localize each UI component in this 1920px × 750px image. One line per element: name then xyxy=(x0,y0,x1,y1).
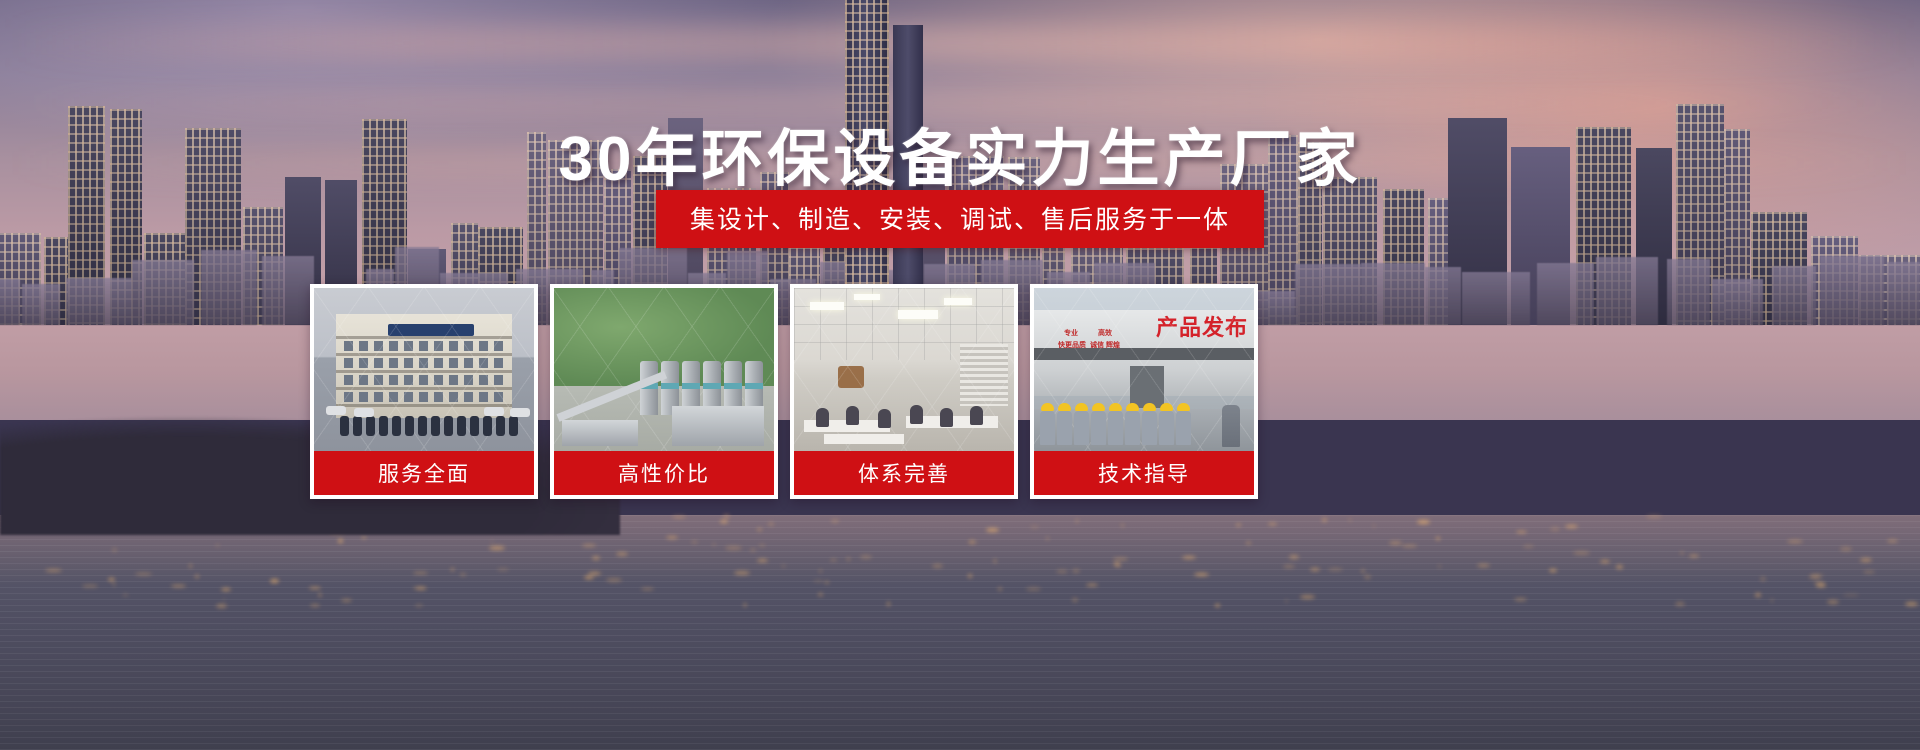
building-silhouette xyxy=(1537,263,1594,325)
person-figure xyxy=(444,416,453,436)
water-reflection-light xyxy=(1600,560,1610,563)
water-reflection-light xyxy=(582,544,596,547)
water-reflection-light xyxy=(1322,518,1327,522)
water-reflection-light xyxy=(1573,551,1590,555)
water-reflection-light xyxy=(672,516,686,518)
parked-car xyxy=(326,406,346,415)
water-reflection-light xyxy=(967,541,978,543)
worker-figure xyxy=(1091,411,1106,445)
water-reflection-light xyxy=(782,565,785,567)
person-figure xyxy=(379,416,388,436)
window-blinds xyxy=(960,344,1008,406)
building-window xyxy=(344,341,353,351)
building-window xyxy=(449,341,458,351)
building-silhouette xyxy=(1820,256,1884,325)
water-reflection-light xyxy=(1689,555,1699,557)
building-window xyxy=(419,375,428,385)
worker-figure xyxy=(1074,411,1089,445)
water-reflection-light xyxy=(757,528,762,531)
building-window xyxy=(389,358,398,368)
water-reflection-light xyxy=(768,522,774,526)
building-shape xyxy=(336,314,512,418)
building-floor-line xyxy=(336,353,512,356)
water-reflection-light xyxy=(1300,595,1315,599)
building-silhouette xyxy=(1667,259,1710,325)
water-reflection-light xyxy=(744,603,746,607)
water-reflection-light xyxy=(45,569,62,572)
building-silhouette xyxy=(132,260,194,325)
safety-helmet-icon xyxy=(1075,403,1088,411)
water-reflection-light xyxy=(1887,540,1898,542)
water-reflection-light xyxy=(1116,563,1121,567)
ceiling-light xyxy=(854,294,880,300)
person-figure xyxy=(509,416,518,436)
factory-wall-slogan: 高效 xyxy=(1098,330,1112,338)
plant-building xyxy=(562,420,638,446)
person-figure xyxy=(496,416,505,436)
water-reflection-light xyxy=(1840,547,1852,551)
building-window xyxy=(389,375,398,385)
water-reflection-light xyxy=(986,528,999,532)
building-window xyxy=(359,375,368,385)
card-caption: 服务全面 xyxy=(314,451,534,495)
water-reflection-light xyxy=(1364,575,1371,579)
person-figure xyxy=(418,416,427,436)
building-window xyxy=(374,375,383,385)
worker-figure xyxy=(1040,411,1055,445)
building-window xyxy=(464,375,473,385)
building-floor-line xyxy=(336,370,512,373)
water-reflection-light xyxy=(189,564,192,568)
building-window xyxy=(434,341,443,351)
water-reflection-light xyxy=(415,604,423,607)
card-caption: 高性价比 xyxy=(554,451,774,495)
feature-card-list: 服务全面 高性价比 体系完善 产品发布 xyxy=(310,284,1258,499)
person-figure xyxy=(816,408,829,427)
worker-figure xyxy=(1108,411,1123,445)
feature-card[interactable]: 服务全面 xyxy=(310,284,538,499)
building-window xyxy=(494,358,503,368)
person-figure xyxy=(910,405,923,424)
card-image-factory-workers: 产品发布 专业 快更品质 高效 诚信 辉煌 xyxy=(1034,288,1254,451)
building-window xyxy=(494,392,503,402)
water-reflection-light xyxy=(1860,558,1872,562)
water-reflection-light xyxy=(416,587,427,590)
water-reflection-light xyxy=(691,541,698,543)
water-reflection-light xyxy=(1194,573,1209,576)
water-reflection-light xyxy=(1477,564,1490,567)
water-reflection-light xyxy=(1755,593,1761,597)
water-reflection-light xyxy=(1550,527,1560,531)
water-reflection-light xyxy=(1113,558,1128,560)
banner-headline: 30年环保设备实力生产厂家 xyxy=(0,108,1920,198)
water-reflection-light xyxy=(1514,598,1527,601)
water-reflection-light xyxy=(1056,570,1068,573)
building-window xyxy=(404,341,413,351)
water-reflection-light xyxy=(1523,545,1534,548)
safety-helmet-icon xyxy=(1092,403,1105,411)
card-caption: 技术指导 xyxy=(1034,451,1254,495)
building-silhouette xyxy=(1361,263,1425,325)
water-reflection-light xyxy=(309,587,321,589)
person-figure xyxy=(366,416,375,436)
water-reflection-light xyxy=(1030,526,1039,528)
water-reflection-light xyxy=(830,559,837,561)
building-window xyxy=(359,341,368,351)
building-silhouette xyxy=(66,278,132,325)
water-reflection-light xyxy=(1436,537,1440,540)
water-reflection-light xyxy=(1402,545,1417,547)
water-reflection-light xyxy=(847,558,850,560)
factory-banner-text: 产品发布 xyxy=(1156,310,1248,342)
water-reflection-light xyxy=(1787,540,1803,543)
water-reflection-light xyxy=(1026,587,1041,591)
feature-card[interactable]: 高性价比 xyxy=(550,284,778,499)
building-window xyxy=(479,358,488,368)
building-window xyxy=(359,392,368,402)
water-reflection-light xyxy=(713,543,715,546)
building-window xyxy=(464,358,473,368)
card-caption: 体系完善 xyxy=(794,451,1014,495)
water-reflection-light xyxy=(319,593,321,597)
plant-building xyxy=(672,406,764,446)
water-reflection-light xyxy=(616,552,628,556)
water-reflection-light xyxy=(216,544,219,547)
water-reflection-light xyxy=(1438,565,1441,568)
safety-helmet-icon xyxy=(1126,403,1139,411)
safety-helmet-icon xyxy=(1058,403,1071,411)
building-sign xyxy=(388,324,474,336)
building-window xyxy=(434,375,443,385)
water-reflection-light xyxy=(1215,604,1220,607)
person-figure xyxy=(431,416,440,436)
card-image-aerial-plant xyxy=(554,288,774,451)
water-reflection-light xyxy=(171,585,186,587)
safety-helmet-icon xyxy=(1177,403,1190,411)
water-reflection-light xyxy=(123,594,128,596)
water-reflection-light xyxy=(1373,524,1375,528)
water-reflection-light xyxy=(413,572,428,574)
water-reflection-light xyxy=(195,575,199,578)
building-window xyxy=(479,375,488,385)
river-water xyxy=(0,515,1920,750)
office-desk xyxy=(824,434,904,444)
water-reflection-light xyxy=(641,588,654,590)
water-reflection-light xyxy=(1565,525,1578,528)
water-reflection-light xyxy=(1549,569,1557,572)
water-reflection-light xyxy=(221,588,231,591)
building-silhouette xyxy=(1712,279,1763,325)
water-reflection-light xyxy=(1268,523,1277,525)
water-reflection-light xyxy=(497,568,509,571)
ceiling-light xyxy=(810,302,844,310)
building-window xyxy=(359,358,368,368)
factory-wall-slogan: 快更品质 xyxy=(1058,342,1086,350)
building-silhouette xyxy=(1887,262,1920,325)
water-reflection-light xyxy=(489,546,505,550)
foreman-figure xyxy=(1222,405,1240,447)
water-reflection-light xyxy=(825,581,829,584)
water-reflection-light xyxy=(1771,599,1773,602)
building-window xyxy=(494,375,503,385)
building-silhouette xyxy=(1425,267,1461,325)
water-reflection-light xyxy=(994,559,996,563)
building-silhouette xyxy=(1462,272,1530,325)
water-reflection-light xyxy=(1072,598,1078,602)
water-reflection-light xyxy=(1810,574,1824,577)
water-reflection-light xyxy=(968,574,972,578)
building-window xyxy=(434,392,443,402)
building-window xyxy=(344,392,353,402)
building-window xyxy=(344,375,353,385)
building-window xyxy=(389,341,398,351)
water-reflection-light xyxy=(860,555,872,559)
factory-door xyxy=(1130,366,1164,408)
person-figure xyxy=(457,416,466,436)
water-reflection-light xyxy=(1417,520,1430,524)
building-window xyxy=(389,392,398,402)
person-figure xyxy=(392,416,401,436)
water-reflection-light xyxy=(1182,556,1196,559)
water-reflection-light xyxy=(82,585,98,587)
feature-card[interactable]: 体系完善 xyxy=(790,284,1018,499)
water-shimmer xyxy=(0,515,1920,750)
person-figure xyxy=(846,406,859,425)
building-window xyxy=(404,392,413,402)
water-reflection-light xyxy=(759,544,765,547)
water-reflection-light xyxy=(666,536,678,539)
water-reflection-light xyxy=(750,549,756,551)
building-silhouette xyxy=(0,279,20,325)
safety-helmet-icon xyxy=(1143,403,1156,411)
water-reflection-light xyxy=(1616,565,1623,569)
water-reflection-light xyxy=(998,587,1002,591)
building-window xyxy=(464,392,473,402)
worker-figure xyxy=(1176,411,1191,445)
feature-card[interactable]: 产品发布 专业 快更品质 高效 诚信 辉煌 技术指导 xyxy=(1030,284,1258,499)
person-figure xyxy=(878,409,891,428)
water-reflection-light xyxy=(1236,524,1241,526)
water-reflection-light xyxy=(887,602,890,606)
building-window xyxy=(374,341,383,351)
water-reflection-light xyxy=(1361,570,1365,572)
building-window xyxy=(374,392,383,402)
water-reflection-light xyxy=(1076,519,1078,523)
water-reflection-light xyxy=(1646,515,1662,518)
water-reflection-light xyxy=(1349,519,1351,521)
water-reflection-light xyxy=(1046,537,1049,540)
person-figure xyxy=(483,416,492,436)
hero-banner: 30年环保设备实力生产厂家 集设计、制造、安装、调试、售后服务于一体 服务全面 … xyxy=(0,0,1920,750)
water-reflection-light xyxy=(1680,552,1684,554)
parked-car xyxy=(484,407,504,416)
water-reflection-light xyxy=(606,578,622,582)
banner-subtitle-bar: 集设计、制造、安装、调试、售后服务于一体 xyxy=(656,190,1264,248)
water-reflection-light xyxy=(584,576,594,579)
water-reflection-light xyxy=(1086,584,1098,586)
water-reflection-light xyxy=(734,571,750,575)
building-window xyxy=(449,392,458,402)
building-silhouette xyxy=(262,256,314,325)
water-reflection-light xyxy=(592,556,600,560)
water-reflection-light xyxy=(216,604,227,608)
worker-figure xyxy=(1125,411,1140,445)
safety-helmet-icon xyxy=(1160,403,1173,411)
safety-helmet-icon xyxy=(1041,403,1054,411)
building-window xyxy=(404,375,413,385)
building-silhouette xyxy=(1295,264,1361,325)
worker-figure xyxy=(1142,411,1157,445)
parked-car xyxy=(354,408,374,417)
water-reflection-light xyxy=(1843,594,1859,596)
person-figure xyxy=(340,416,349,436)
person-figure xyxy=(470,416,479,436)
water-reflection-light xyxy=(223,598,225,601)
person-figure xyxy=(353,416,362,436)
building-window xyxy=(419,358,428,368)
water-reflection-light xyxy=(1816,584,1826,587)
water-reflection-light xyxy=(460,573,466,576)
water-reflection-light xyxy=(831,520,839,522)
building-silhouette xyxy=(201,250,257,325)
water-reflection-light xyxy=(723,515,730,517)
water-reflection-light xyxy=(1283,565,1295,568)
water-reflection-light xyxy=(451,568,454,571)
water-reflection-light xyxy=(270,579,279,583)
water-reflection-light xyxy=(1389,541,1402,545)
building-window xyxy=(344,358,353,368)
water-reflection-light xyxy=(1121,524,1124,527)
water-reflection-light xyxy=(362,536,366,539)
card-image-office-building xyxy=(314,288,534,451)
water-reflection-light xyxy=(818,593,823,596)
water-reflection-light xyxy=(1328,568,1343,571)
water-reflection-light xyxy=(1905,602,1918,606)
water-reflection-light xyxy=(588,572,601,575)
person-figure xyxy=(970,406,983,425)
person-figure xyxy=(405,416,414,436)
building-window xyxy=(434,358,443,368)
building-silhouette xyxy=(1596,257,1658,325)
water-reflection-light xyxy=(135,573,152,575)
water-reflection-light xyxy=(1516,531,1527,533)
building-window xyxy=(479,392,488,402)
building-silhouette xyxy=(22,284,60,325)
building-window xyxy=(404,358,413,368)
water-reflection-light xyxy=(813,580,824,582)
factory-wall-slogan: 专业 xyxy=(1064,330,1078,338)
building-floor-line xyxy=(336,387,512,390)
water-reflection-light xyxy=(113,583,115,586)
safety-helmet-icon xyxy=(1109,403,1122,411)
water-reflection-light xyxy=(1760,577,1766,581)
wall-logo xyxy=(838,366,864,388)
card-image-office-interior xyxy=(794,288,1014,451)
building-silhouette xyxy=(1772,266,1816,325)
water-reflection-light xyxy=(310,604,320,607)
water-reflection-light xyxy=(720,520,728,523)
water-reflection-light xyxy=(1310,568,1320,571)
building-window xyxy=(479,341,488,351)
parked-car xyxy=(510,408,530,417)
water-reflection-light xyxy=(1827,600,1839,604)
worker-figure xyxy=(1057,411,1072,445)
water-reflection-light xyxy=(491,540,493,542)
water-reflection-light xyxy=(819,570,822,572)
water-reflection-light xyxy=(1285,600,1288,602)
water-reflection-light xyxy=(108,578,115,581)
building-window xyxy=(419,341,428,351)
building-window xyxy=(374,358,383,368)
water-reflection-light xyxy=(1675,602,1685,606)
worker-figure xyxy=(1159,411,1174,445)
building-window xyxy=(449,358,458,368)
water-reflection-light xyxy=(341,599,352,602)
water-reflection-light xyxy=(338,539,343,543)
water-reflection-light xyxy=(112,548,117,552)
water-reflection-light xyxy=(1246,542,1251,544)
water-reflection-light xyxy=(757,559,768,562)
building-window xyxy=(419,392,428,402)
water-reflection-light xyxy=(725,546,742,550)
water-reflection-light xyxy=(1289,555,1299,559)
building-floor-line xyxy=(336,336,512,339)
water-reflection-light xyxy=(932,564,943,568)
water-reflection-light xyxy=(1863,571,1875,573)
water-reflection-light xyxy=(1072,569,1080,573)
ceiling-light xyxy=(898,310,938,319)
ceiling-light xyxy=(944,298,972,305)
building-window xyxy=(449,375,458,385)
building-window xyxy=(464,341,473,351)
person-figure xyxy=(940,408,953,427)
factory-wall-slogan: 诚信 辉煌 xyxy=(1090,342,1120,350)
building-window xyxy=(494,341,503,351)
